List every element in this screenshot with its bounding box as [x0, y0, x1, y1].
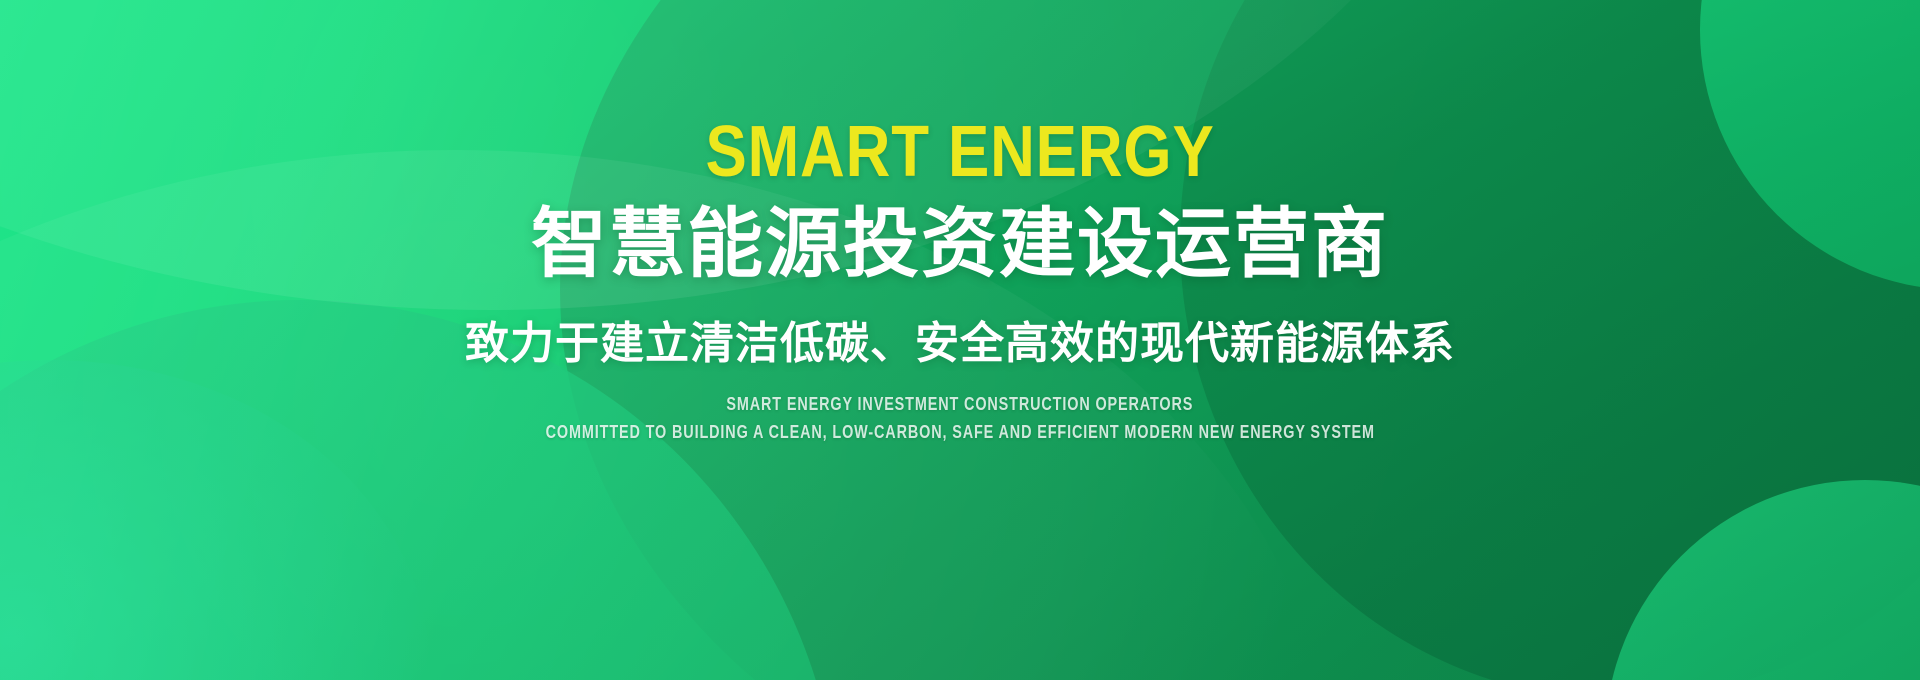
hero-banner: SMART ENERGY 智慧能源投资建设运营商 致力于建立清洁低碳、安全高效的… — [0, 0, 1920, 680]
banner-text-block: SMART ENERGY 智慧能源投资建设运营商 致力于建立清洁低碳、安全高效的… — [0, 0, 1920, 680]
banner-caption-line-1: SMART ENERGY INVESTMENT CONSTRUCTION OPE… — [727, 394, 1194, 415]
banner-subheadline-chinese: 致力于建立清洁低碳、安全高效的现代新能源体系 — [465, 320, 1455, 368]
banner-headline-english: SMART ENERGY — [705, 116, 1214, 188]
banner-caption-line-2: COMMITTED TO BUILDING A CLEAN, LOW-CARBO… — [545, 422, 1374, 443]
banner-headline-chinese: 智慧能源投资建设运营商 — [531, 204, 1389, 286]
